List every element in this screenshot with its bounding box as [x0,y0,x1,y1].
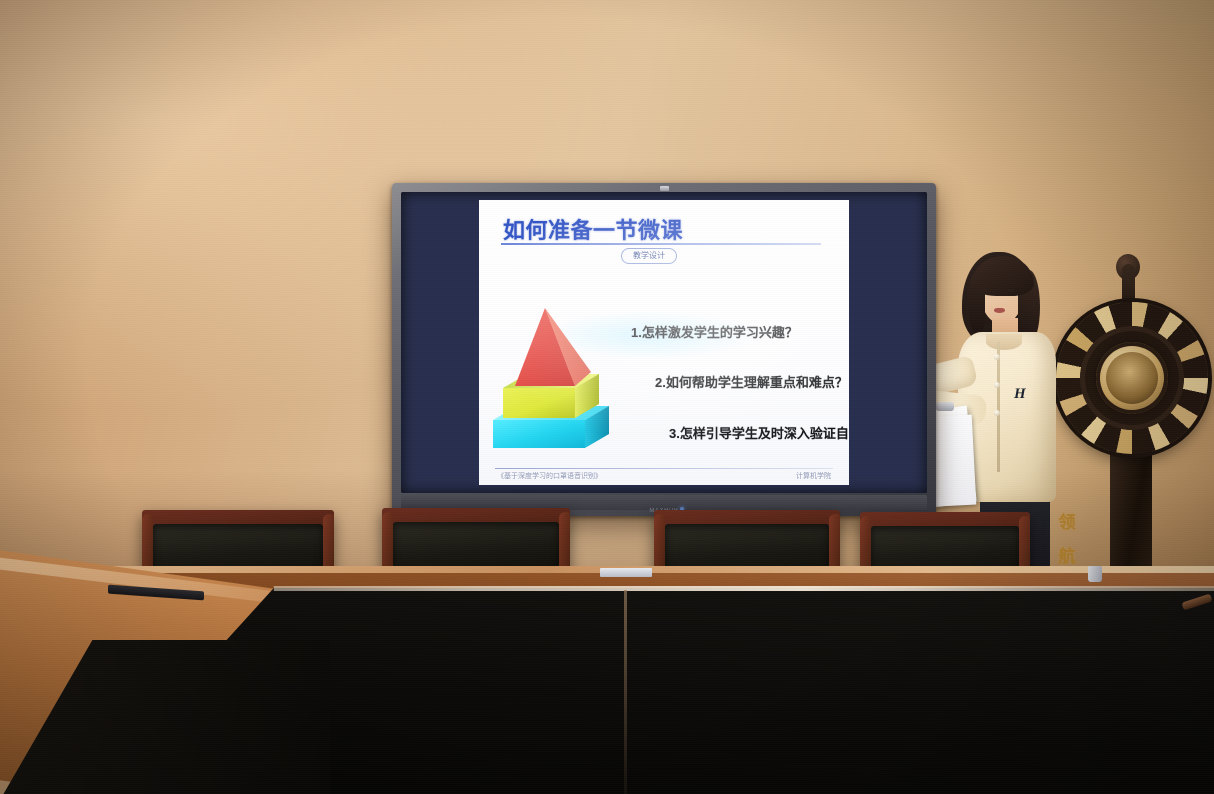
presenter-button-placket [997,342,1000,472]
cardigan-logo: H [1014,386,1026,403]
pyramid-svg [487,292,627,452]
slide-footer-left: 《基于深度学习的口罩语音识别》 [497,471,602,481]
display-panel[interactable]: 如何准备一节微课 教学设计 [401,192,927,493]
presenter-button [994,354,1000,360]
presenter-collar [986,334,1022,350]
wheel-stand [1110,440,1152,580]
presenter-button [994,382,1000,388]
slide-bullet-2: 2.如何帮助学生理解重点和难点？ [655,372,848,391]
presentation-room-photo: 领 航 H 如何准备一节微课 [0,0,1214,794]
presenter-mouth [994,308,1005,313]
slide-bullet-1: 1.怎样激发学生的学习兴趣？ [631,322,798,341]
slide-footer-right: 计算机学院 [796,471,831,481]
three-tier-pyramid-graphic [487,292,627,452]
table-center-seam [624,590,627,794]
presenter-wristwatch [936,402,954,411]
presentation-slide[interactable]: 如何准备一节微课 教学设计 [479,200,849,485]
slide-bullet-3: 3.怎样引导学生及时深入验证自己的所学？ [669,423,849,442]
title-underline [501,243,821,245]
wheel-emblem-icon [1106,352,1158,404]
camera-icon [660,186,669,191]
slide-title: 如何准备一节微课 [503,213,683,245]
smart-display[interactable]: 如何准备一节微课 教学设计 [392,183,936,516]
presenter-eye-right [1008,289,1014,292]
slide-footer-rule [495,468,833,469]
slide-section-badge: 教学设计 [621,248,677,264]
notepad[interactable] [600,568,652,577]
presenter-button [994,410,1000,416]
presenter-eye-left [989,290,995,293]
cup[interactable] [1088,566,1102,582]
ships-wheel-trophy: 领 航 [1046,250,1214,600]
